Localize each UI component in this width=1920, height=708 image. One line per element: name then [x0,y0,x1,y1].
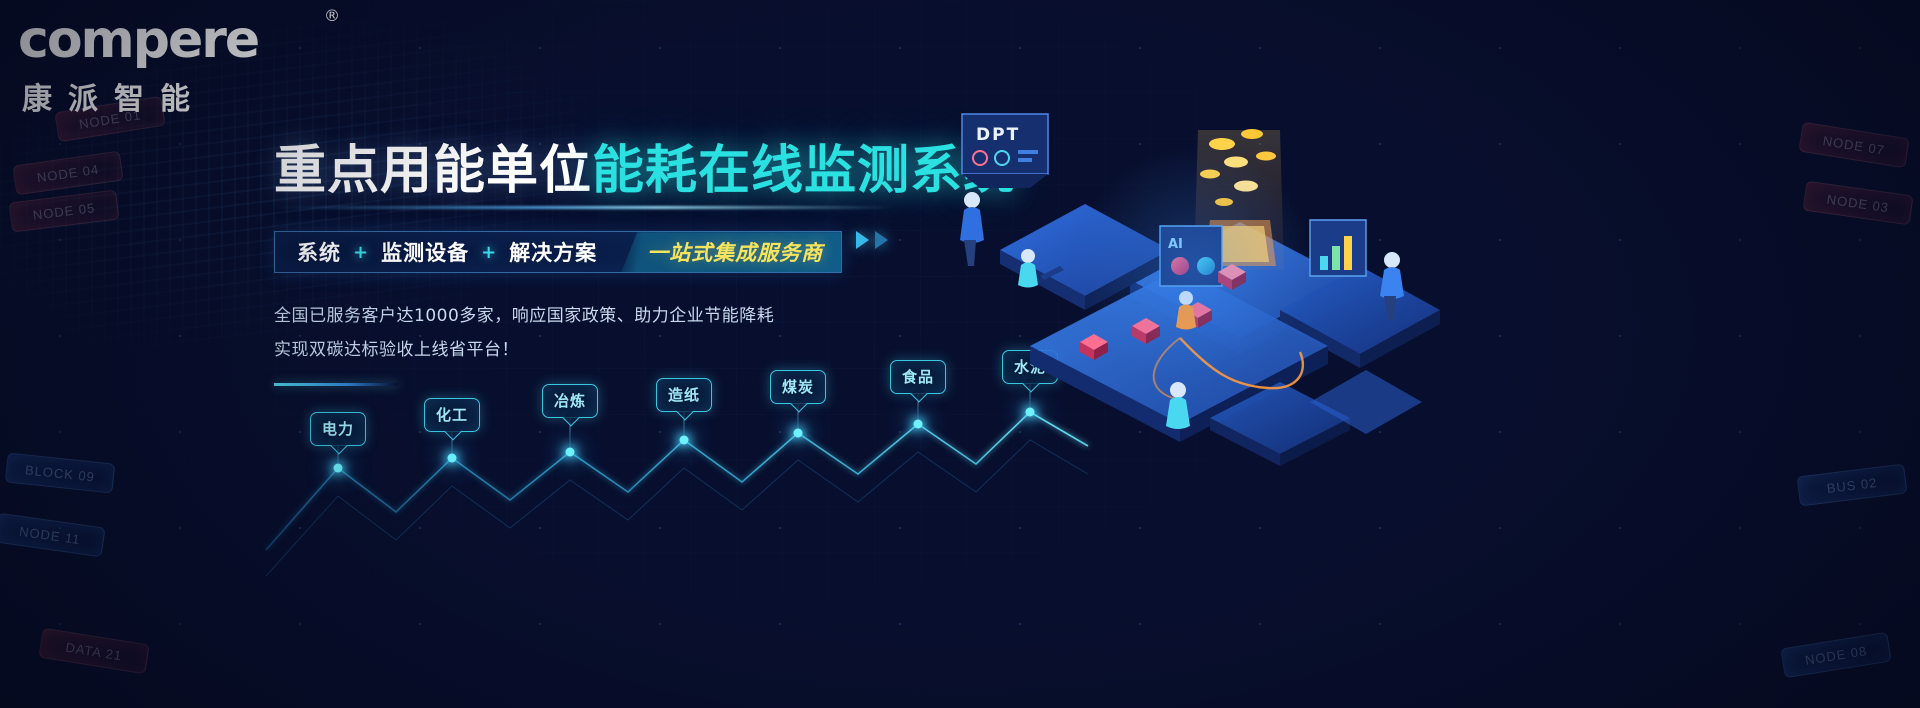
industry-chip-electricity[interactable]: 电力 [310,412,366,446]
dashboard-screen: DPT [962,114,1048,188]
hero-description-line-1: 全国已服务客户达1000多家，响应国家政策、助力企业节能降耗 [274,299,974,333]
hero-description: 全国已服务客户达1000多家，响应国家政策、助力企业节能降耗 实现双碳达标验收上… [274,299,974,367]
industry-chip-label: 造纸 [668,386,700,404]
screen-label: DPT [976,125,1020,145]
brand-wordmark: compere ® [18,14,338,66]
industry-node [566,448,575,457]
accent-rule [274,383,398,386]
plus-icon: + [481,242,497,263]
service-tag-list: 系统 + 监测设备 + 解决方案 [275,232,615,272]
side-plate-label: NODE 05 [32,200,96,223]
industry-node [794,429,803,438]
ai-label: AI [1168,237,1183,252]
side-plate-label: BLOCK 09 [24,462,95,484]
side-plate-label: DATA 21 [65,639,124,663]
side-plate-label: NODE 04 [36,161,100,185]
side-plate-label: NODE 03 [1826,191,1890,215]
registered-trademark-icon: ® [324,8,340,24]
side-plate-label: NODE 07 [1822,133,1886,158]
title-glow-divider [274,206,894,209]
industry-node [334,464,343,473]
tagbar-row: 系统 + 监测设备 + 解决方案 一站式集成服务商 [274,209,974,273]
chart-board [1310,220,1366,276]
person-left [960,192,984,266]
industry-chip-chemical[interactable]: 化工 [424,398,480,432]
ai-panel: AI [1160,226,1222,286]
brand-wordmark-text: compere [18,10,258,70]
industry-chip-label: 冶炼 [554,392,586,410]
industry-chip-label: 煤炭 [782,378,814,396]
service-tag-bar: 系统 + 监测设备 + 解决方案 一站式集成服务商 [274,231,842,273]
side-plate-label: NODE 11 [18,523,81,546]
industry-node [680,436,689,445]
side-plate-label: NODE 08 [1804,643,1868,668]
industry-chip-paper[interactable]: 造纸 [656,378,712,412]
hero-description-line-2: 实现双碳达标验收上线省平台！ [274,333,974,367]
industry-node [448,454,457,463]
side-plate-label: BUS 02 [1826,474,1878,495]
page-title: 重点用能单位能耗在线监测系统 [274,142,974,200]
industry-chip-coal[interactable]: 煤炭 [770,370,826,404]
service-tag-highlight: 一站式集成服务商 [621,232,841,272]
plus-icon: + [353,242,369,263]
hero-banner: NODE 01 NODE 04 NODE 05 BLOCK 09 NODE 11… [0,0,1920,708]
industry-chip-label: 电力 [322,420,354,438]
brand-chinese-name: 康派智能 [18,74,338,118]
illustration-svg: DPT AI [880,70,1440,490]
industry-chip-label: 化工 [436,406,468,424]
isometric-illustration: DPT AI [880,70,1440,490]
hero-copy: 重点用能单位能耗在线监测系统 系统 + 监测设备 + 解决方案 一站式集成服务商… [274,142,974,386]
industry-chip-smelting[interactable]: 冶炼 [542,384,598,418]
page-title-primary: 重点用能单位 [274,141,592,201]
service-tag-system: 系统 [297,237,341,267]
brand-logo[interactable]: compere ® 康派智能 [18,14,338,118]
play-arrow-icon [856,231,869,249]
service-tag-monitoring-device: 监测设备 [381,237,469,267]
service-tag-solution: 解决方案 [509,237,597,267]
